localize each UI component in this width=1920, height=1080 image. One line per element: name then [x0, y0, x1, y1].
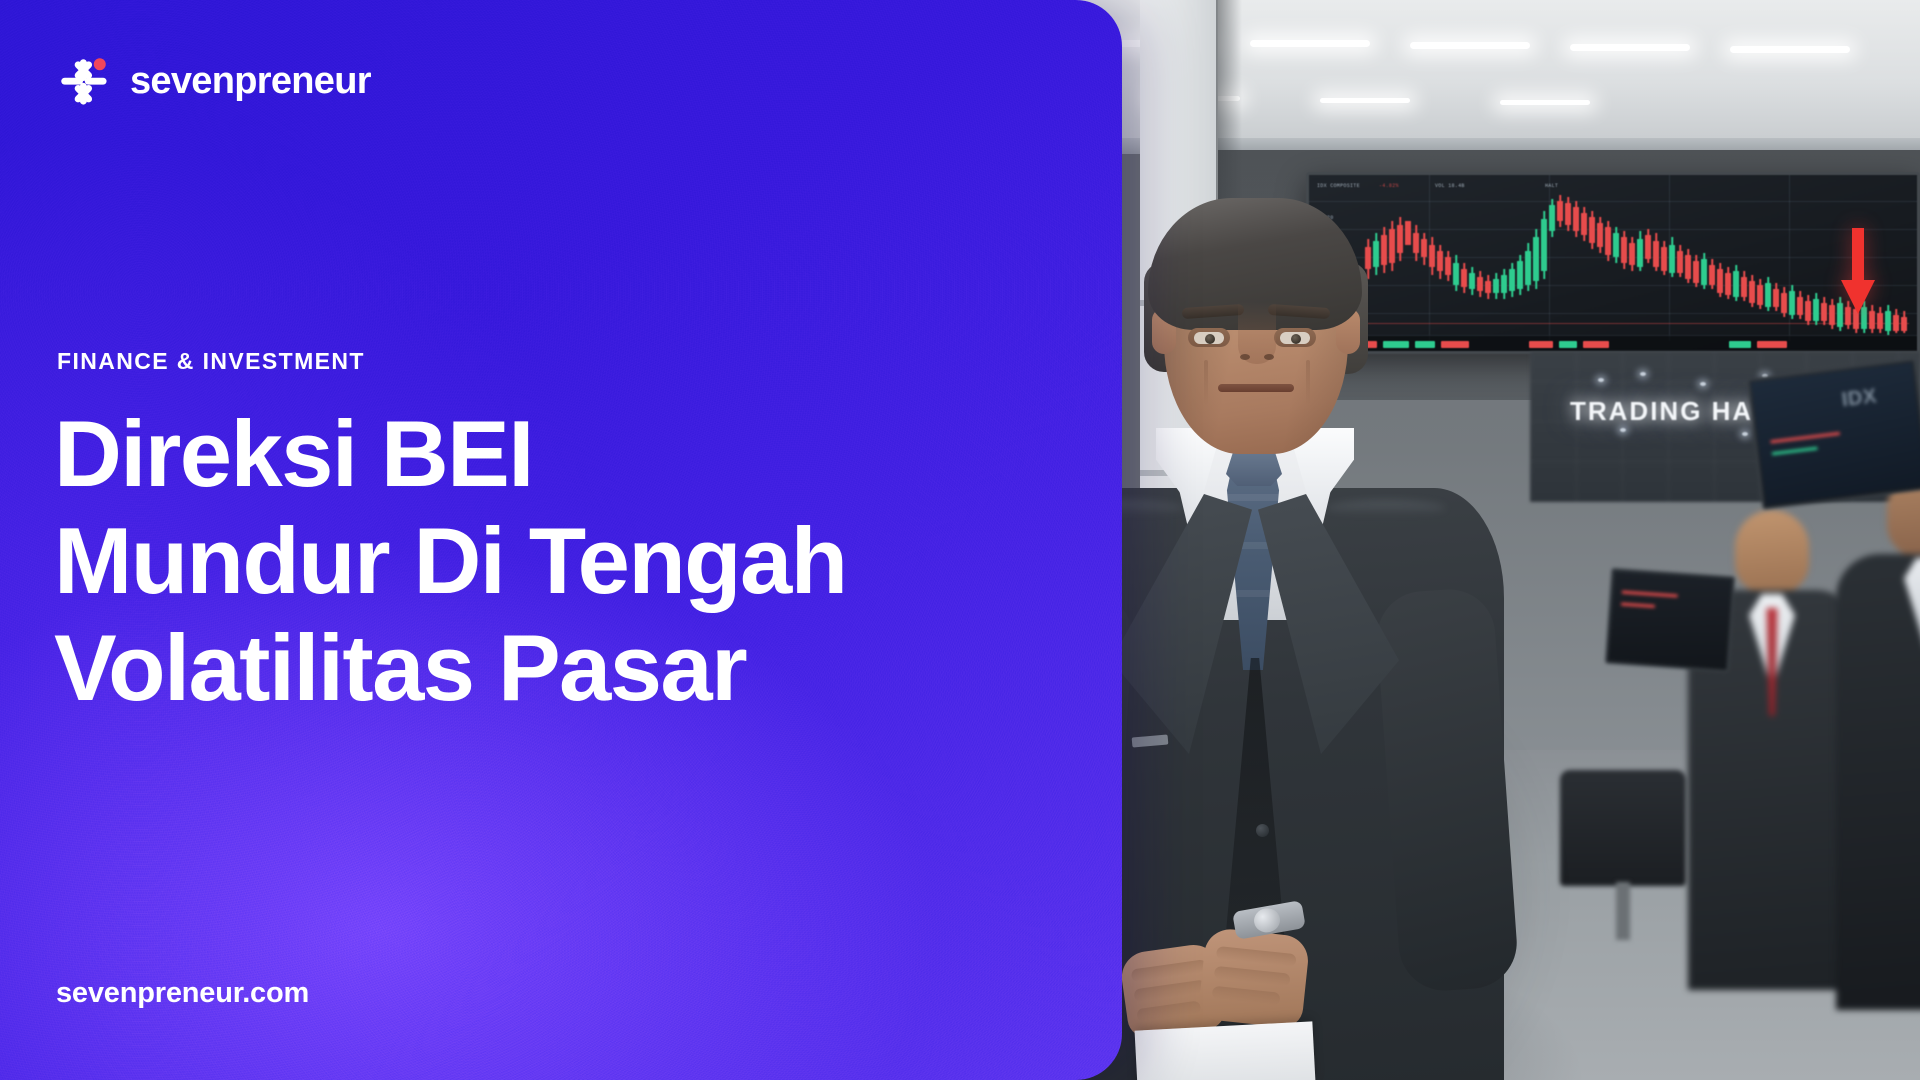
hand-right [1197, 927, 1310, 1029]
accent-dot-icon [94, 58, 106, 70]
eye-left [1188, 328, 1230, 347]
ceiling-light [1320, 98, 1410, 103]
page-title: Direksi BEI Mundur Di Tengah Volatilitas… [54, 400, 1064, 721]
footer-website-url[interactable]: sevenpreneur.com [56, 977, 309, 1010]
mouth [1218, 384, 1294, 392]
document-paper [1135, 1021, 1316, 1080]
ceiling-light [1500, 100, 1590, 105]
headline-line-2: Mundur Di Tengah [54, 507, 1064, 614]
sevenpreneur-starburst-icon [54, 52, 112, 110]
ceiling-light [1570, 44, 1690, 51]
headline-line-3: Volatilitas Pasar [54, 614, 1064, 721]
down-arrow-icon [1840, 228, 1876, 314]
monitor: IDX [1747, 358, 1920, 510]
monitor [1605, 568, 1735, 672]
news-card-stage: IDX COMPOSITE -4.82% VOL 18.4B HALT 7.42… [0, 0, 1920, 1080]
office-chair [1560, 770, 1686, 886]
category-kicker: FINANCE & INVESTMENT [57, 348, 365, 375]
nose [1238, 302, 1276, 364]
blue-content-card: sevenpreneur FINANCE & INVESTMENT Direks… [0, 0, 1122, 1080]
ceiling-light [1250, 40, 1370, 47]
background-person [1836, 470, 1920, 1010]
eye-right [1274, 328, 1316, 347]
ceiling-light [1410, 42, 1530, 49]
headline-line-1: Direksi BEI [54, 400, 1064, 507]
chair-post [1616, 882, 1630, 940]
jacket-button [1256, 824, 1269, 837]
brand-wordmark: sevenpreneur [130, 62, 371, 100]
brand-logo[interactable]: sevenpreneur [54, 52, 371, 110]
ceiling-light [1730, 46, 1850, 53]
